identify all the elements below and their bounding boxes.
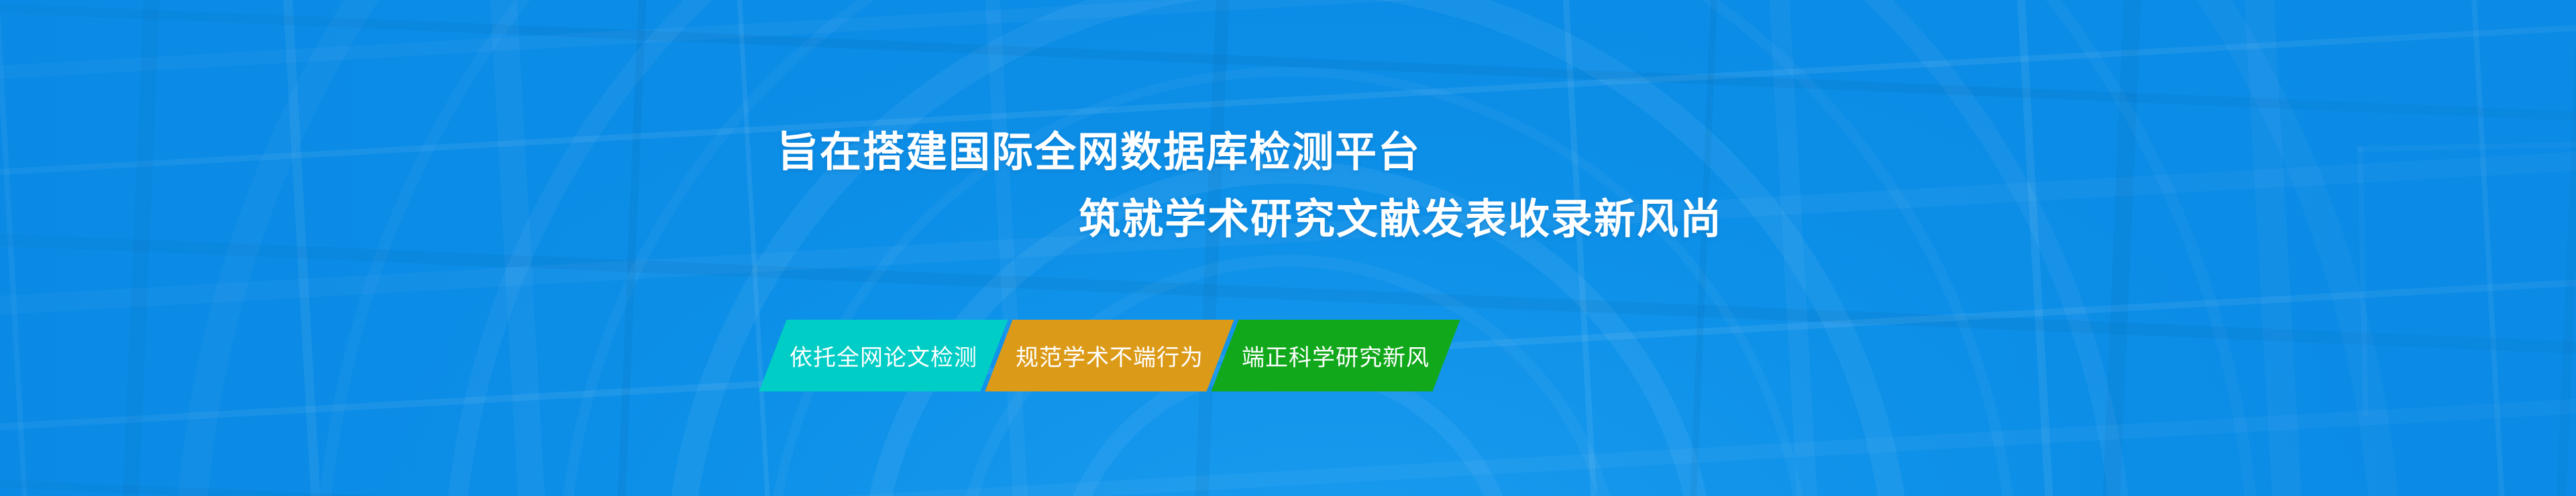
headline-line-1: 旨在搭建国际全网数据库检测平台: [777, 119, 2576, 186]
hero-banner: 旨在搭建国际全网数据库检测平台 筑就学术研究文献发表收录新风尚 依托全网论文检测…: [0, 0, 2576, 496]
feature-tag-detection-label: 依托全网论文检测: [790, 339, 977, 372]
feature-tag-misconduct[interactable]: 规范学术不端行为: [985, 320, 1234, 391]
headline-block: 旨在搭建国际全网数据库检测平台 筑就学术研究文献发表收录新风尚: [0, 119, 2576, 253]
feature-tag-research-ethos[interactable]: 端正科学研究新风: [1211, 320, 1460, 391]
banner-content: 旨在搭建国际全网数据库检测平台 筑就学术研究文献发表收录新风尚 依托全网论文检测…: [0, 0, 2576, 496]
headline-line-2: 筑就学术研究文献发表收录新风尚: [1079, 186, 2576, 253]
feature-tag-detection[interactable]: 依托全网论文检测: [759, 320, 1008, 391]
feature-tag-strip: 依托全网论文检测 规范学术不端行为 端正科学研究新风: [773, 320, 1446, 391]
feature-tag-misconduct-label: 规范学术不端行为: [1016, 339, 1203, 372]
feature-tag-research-ethos-label: 端正科学研究新风: [1242, 339, 1430, 372]
